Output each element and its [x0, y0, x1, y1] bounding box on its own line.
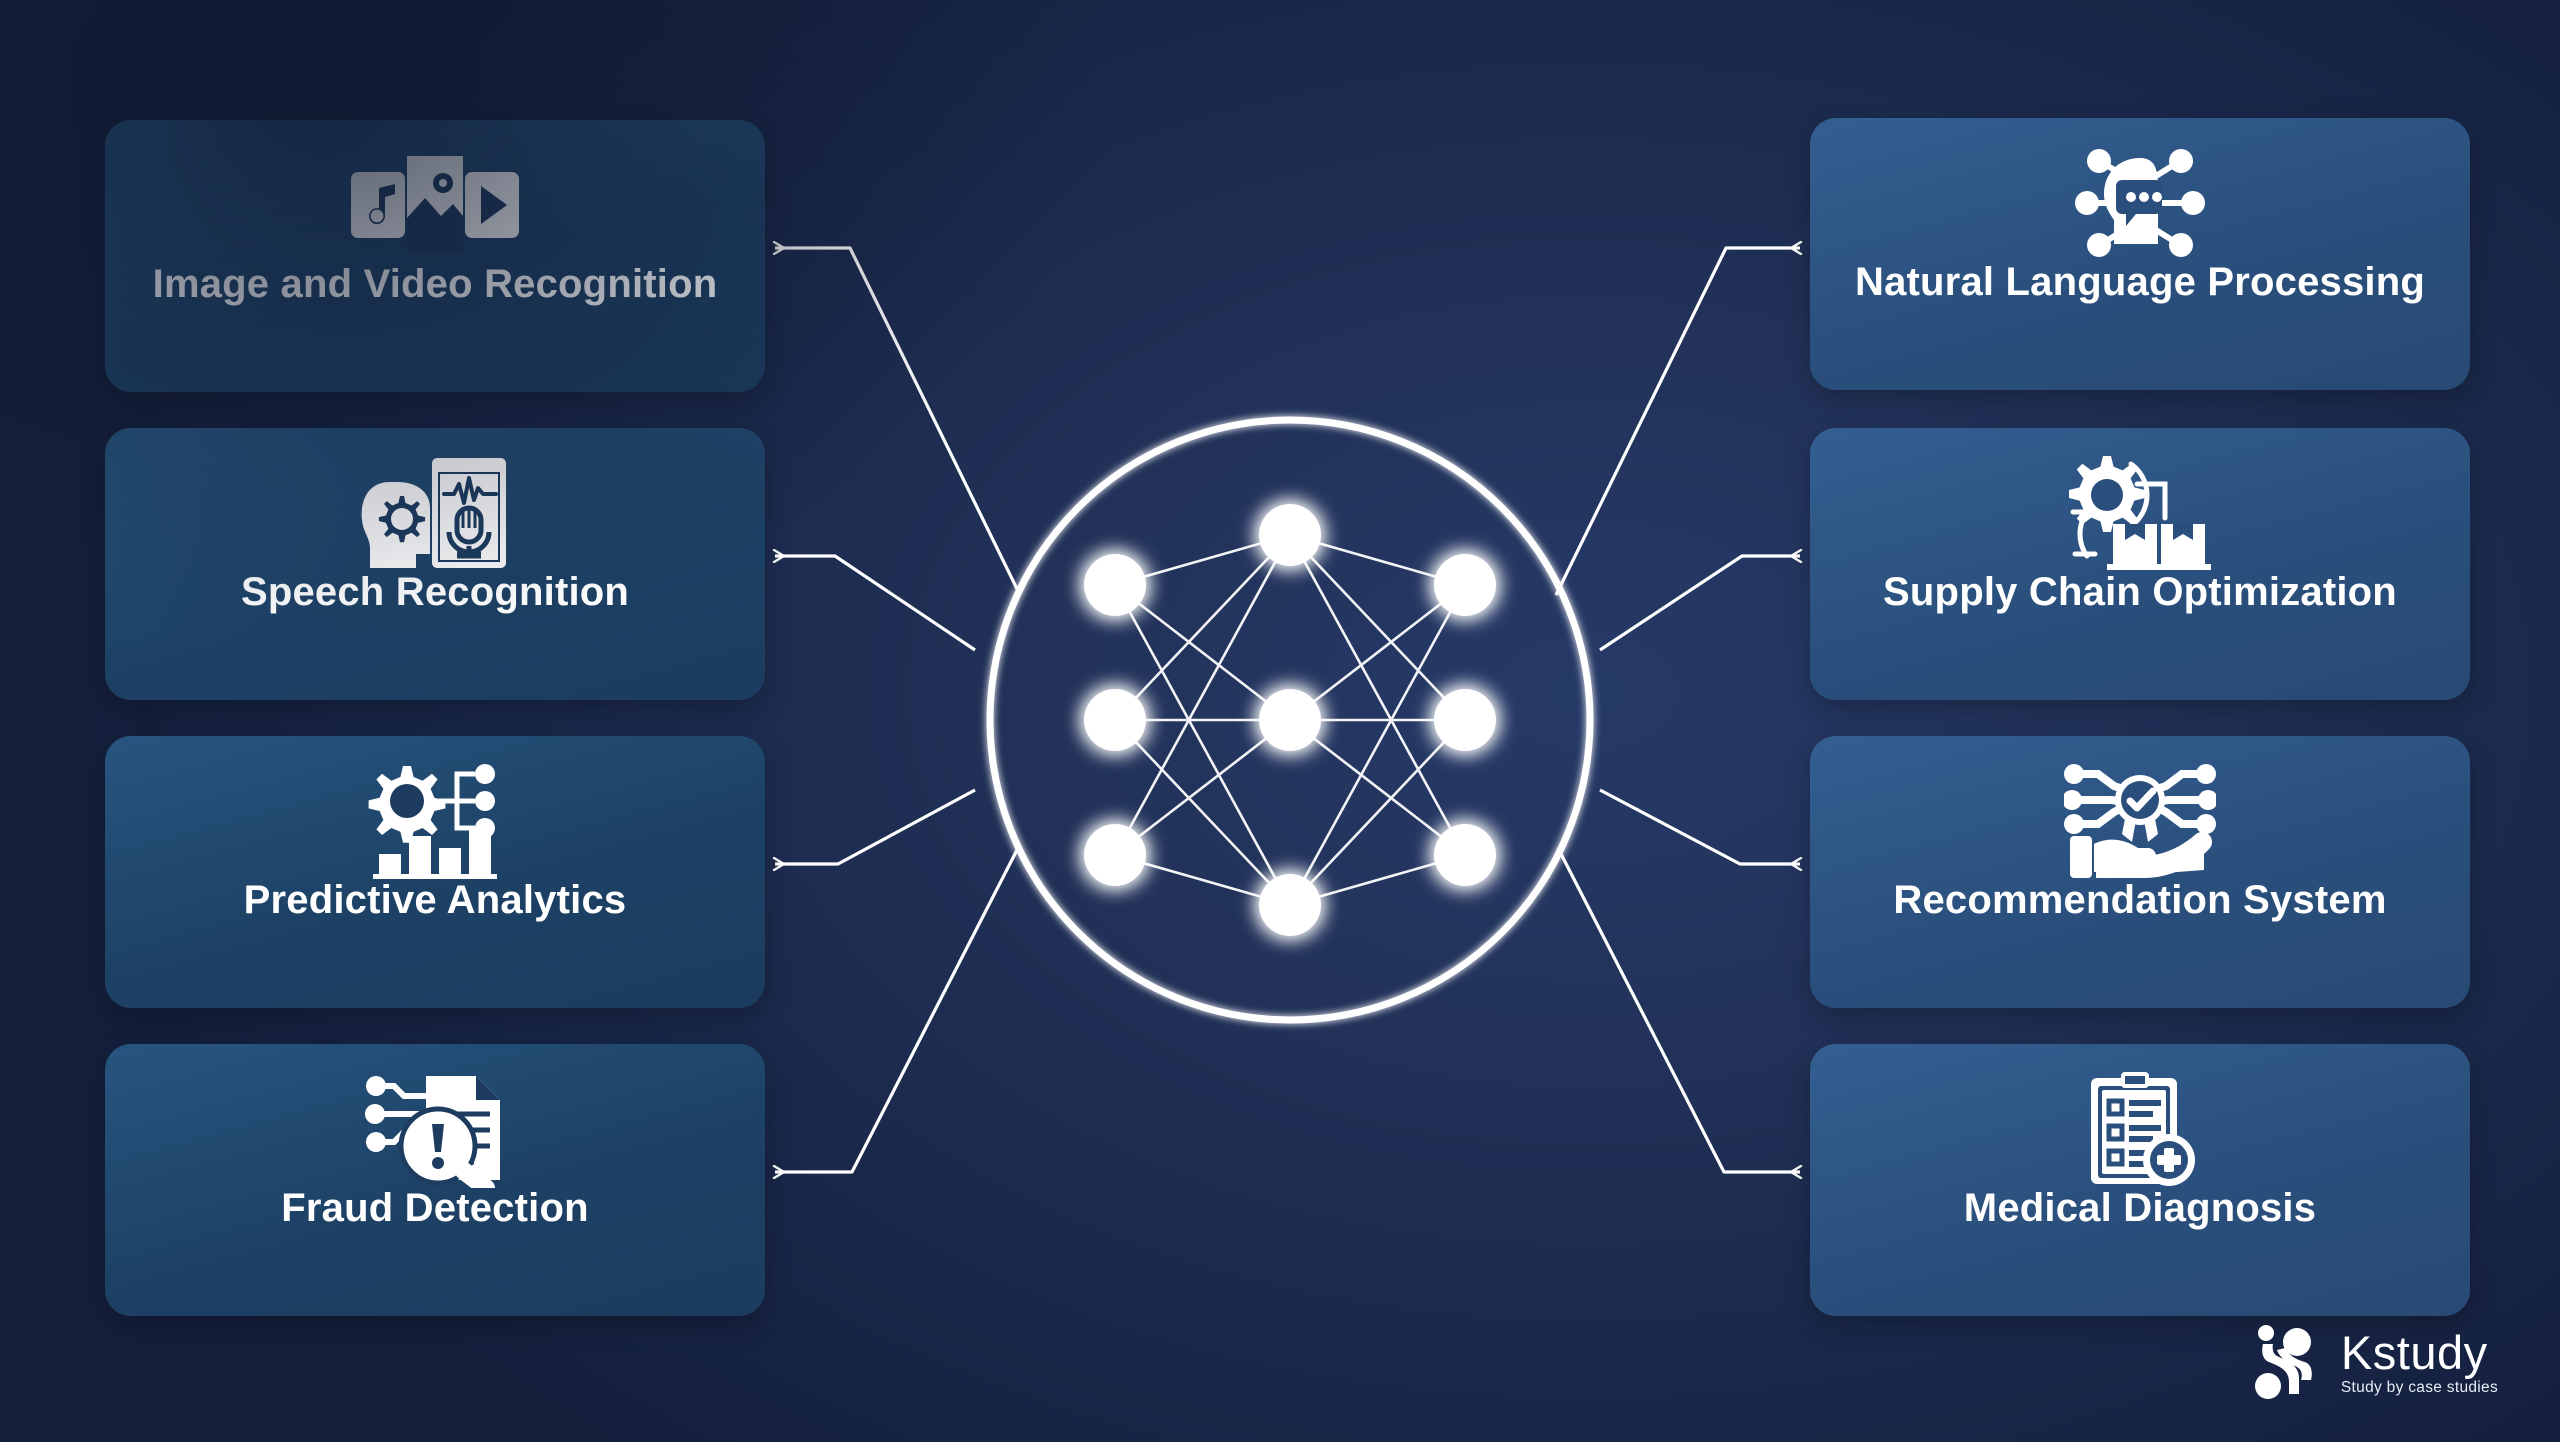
diagram-canvas: Image and Video Recognition [0, 0, 2560, 1442]
predictive-analytics-icon [105, 762, 765, 880]
card-speech-recognition[interactable]: Speech Recognition [105, 428, 765, 700]
arrow-to-predictive-analytics [775, 790, 975, 864]
image-video-recognition-icon [105, 146, 765, 264]
medical-diagnosis-icon [1810, 1070, 2470, 1188]
card-image-and-video-recognition[interactable]: Image and Video Recognition [105, 120, 765, 392]
card-recommendation-system[interactable]: Recommendation System [1810, 736, 2470, 1008]
arrow-to-speech-recognition [775, 556, 975, 650]
card-label: Medical Diagnosis [1810, 1188, 2470, 1228]
kstudy-logo-mark [2255, 1324, 2325, 1400]
card-natural-language-processing[interactable]: Natural Language Processing [1810, 118, 2470, 390]
card-label: Supply Chain Optimization [1810, 572, 2470, 612]
natural-language-processing-icon [1810, 144, 2470, 262]
arrow-to-recommendation-system [1600, 790, 1800, 864]
neural-network-hub [975, 405, 1605, 1035]
card-fraud-detection[interactable]: Fraud Detection [105, 1044, 765, 1316]
recommendation-system-icon [1810, 762, 2470, 880]
card-predictive-analytics[interactable]: Predictive Analytics [105, 736, 765, 1008]
card-label: Natural Language Processing [1810, 262, 2470, 302]
kstudy-logo[interactable]: Kstudy Study by case studies [2255, 1324, 2498, 1400]
card-label: Image and Video Recognition [105, 264, 765, 304]
card-label: Speech Recognition [105, 572, 765, 612]
logo-tagline-text: Study by case studies [2341, 1380, 2498, 1396]
supply-chain-optimization-icon [1810, 454, 2470, 572]
card-label: Fraud Detection [105, 1188, 765, 1228]
logo-brand-text: Kstudy [2341, 1329, 2498, 1376]
card-label: Predictive Analytics [105, 880, 765, 920]
speech-recognition-icon [105, 454, 765, 572]
card-medical-diagnosis[interactable]: Medical Diagnosis [1810, 1044, 2470, 1316]
card-supply-chain-optimization[interactable]: Supply Chain Optimization [1810, 428, 2470, 700]
hub-nodes [1084, 504, 1496, 936]
card-label: Recommendation System [1810, 880, 2470, 920]
fraud-detection-icon [105, 1070, 765, 1188]
arrow-to-supply-chain-optimization [1600, 556, 1800, 650]
